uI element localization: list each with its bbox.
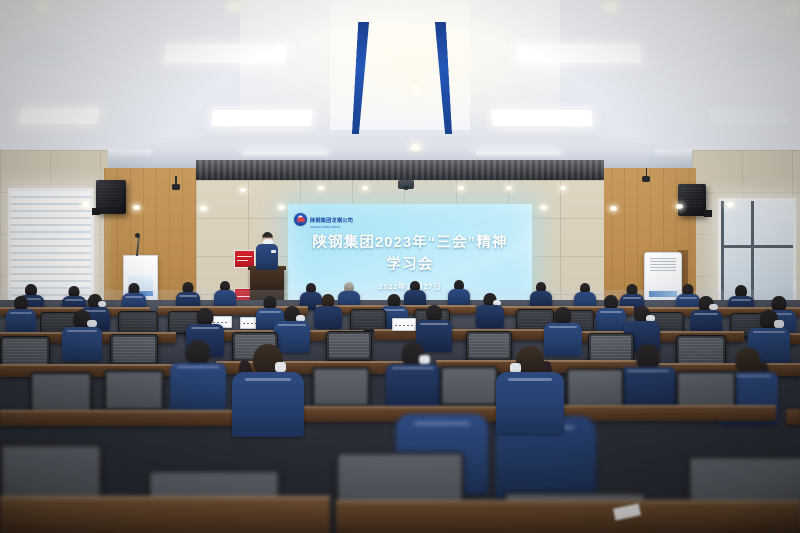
chair-mesh-back — [315, 370, 367, 404]
attendee — [596, 295, 626, 331]
uniform-collar — [278, 324, 305, 326]
face-mask — [275, 362, 286, 372]
attendee — [448, 280, 470, 307]
chair-mesh-back — [443, 369, 495, 403]
chair-mesh-back — [33, 375, 89, 411]
uniform-collar — [549, 326, 578, 328]
uniform-collar — [414, 422, 469, 425]
attendee-body — [170, 363, 226, 413]
desk — [336, 500, 800, 533]
attendee-body — [496, 372, 564, 434]
ceiling-downlight — [726, 202, 734, 207]
desk — [0, 496, 330, 533]
desk — [786, 409, 800, 425]
face-mask — [87, 320, 97, 327]
uniform-collar — [179, 295, 197, 297]
desk-edge — [336, 500, 800, 503]
ceiling-downlight — [278, 205, 285, 210]
attendee-ponytail — [232, 344, 304, 436]
ceiling-downlight — [540, 205, 547, 210]
attendee — [6, 296, 36, 332]
uniform-collar — [67, 330, 97, 332]
desk — [0, 410, 246, 426]
uniform-collar — [694, 313, 718, 315]
desk-edge — [0, 410, 246, 412]
attendee — [476, 293, 504, 327]
attendee-body — [6, 309, 36, 333]
uniform-collar — [125, 296, 143, 298]
chair[interactable] — [104, 370, 164, 411]
placard-text — [395, 325, 413, 326]
attendee — [314, 294, 342, 328]
uniform-collar — [753, 331, 785, 333]
attendee — [530, 282, 552, 309]
attendee — [170, 340, 226, 412]
uniform-collar — [10, 312, 33, 314]
chair[interactable] — [110, 334, 158, 365]
chair-mesh-back — [121, 314, 155, 332]
uniform-collar — [508, 378, 552, 381]
chair[interactable] — [326, 331, 372, 361]
chair-mesh-back — [3, 339, 47, 365]
attendee-body — [476, 305, 504, 328]
uniform-collar — [627, 370, 670, 372]
chair-mesh-back — [569, 371, 621, 405]
chair[interactable] — [312, 367, 370, 407]
ceiling-downlight — [610, 206, 617, 211]
attendee — [386, 342, 440, 412]
chair[interactable] — [440, 366, 498, 406]
chair[interactable] — [566, 368, 624, 408]
chair[interactable] — [350, 309, 386, 331]
ceiling-downlight — [362, 186, 368, 190]
uniform-collar — [245, 378, 291, 381]
desk-edge — [0, 496, 330, 499]
ceiling-downlight — [458, 186, 464, 190]
attendee-body — [314, 306, 342, 329]
ceiling-downlight — [82, 202, 90, 207]
uniform-collar — [383, 309, 404, 311]
attendee — [690, 296, 722, 334]
chair[interactable] — [30, 372, 92, 414]
ceiling-downlight — [676, 204, 683, 209]
chair-mesh-back — [107, 373, 161, 408]
attendee-body — [62, 327, 102, 361]
face-mask — [774, 320, 784, 328]
uniform-collar — [191, 327, 220, 329]
chair-mesh-back — [113, 337, 155, 362]
attendee — [62, 310, 102, 360]
chair-mesh-back — [679, 338, 723, 364]
chair-mesh-back — [353, 312, 383, 328]
attendee — [214, 281, 236, 308]
ceiling-downlight — [200, 206, 207, 211]
face-mask — [419, 355, 430, 364]
ceiling-downlight — [133, 205, 140, 210]
ceiling-downlight — [240, 188, 246, 192]
chair-mesh-back — [329, 334, 369, 358]
uniform-collar — [420, 323, 447, 325]
attendee-body — [232, 372, 304, 437]
ceiling-downlight — [506, 186, 512, 190]
ceiling-downlight — [318, 186, 324, 190]
uniform-collar — [177, 366, 220, 368]
conference-room-photo: 陕钢集团龙钢公司 SHAANXI STEEL GROUP 陕钢集团2023年“三… — [0, 0, 800, 533]
name-placard — [392, 318, 416, 331]
uniform-collar — [731, 299, 751, 301]
attendee-ponytail — [496, 346, 564, 434]
uniform-collar — [600, 311, 623, 313]
attendee-body — [596, 308, 626, 332]
uniform-collar — [392, 367, 433, 369]
ceiling-downlight — [560, 186, 566, 190]
